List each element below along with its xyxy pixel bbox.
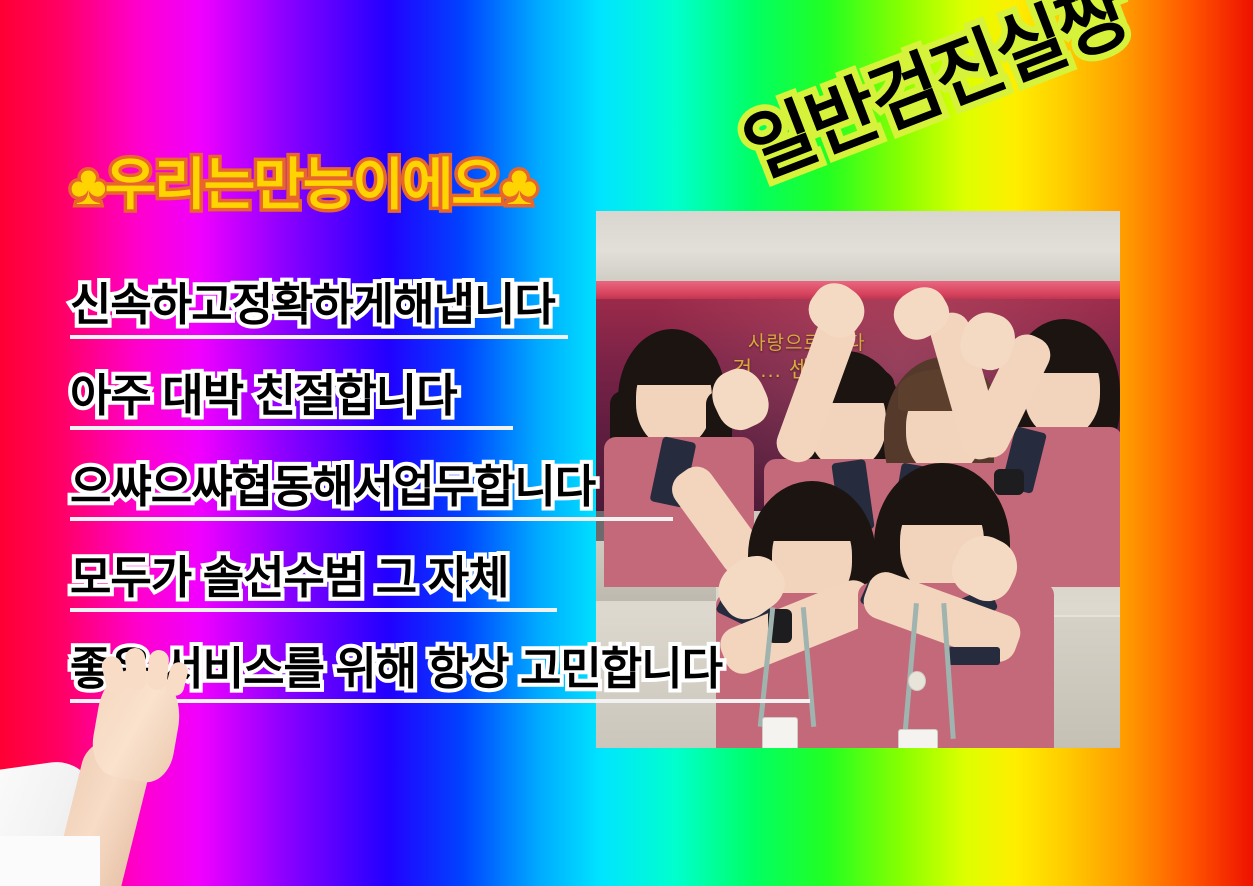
finger <box>124 647 148 691</box>
body-line-underline <box>70 517 673 521</box>
body-line-text: 아주 대박 친절합니다 <box>70 372 457 420</box>
body-line-underline <box>70 608 557 612</box>
page-title: ♣우리는만능이에오♣ <box>70 140 536 221</box>
body-line-underline <box>70 426 513 430</box>
photo-wall-upper-band <box>596 211 1120 283</box>
body-line-underline <box>70 335 568 339</box>
body-line-text: 신속하고정확하게해냅니다 <box>70 281 555 329</box>
body-line-text: 모두가 솔선수범 그 자체 <box>70 554 509 602</box>
poster-canvas: 사랑으로 ...다 건 ... 센터 <box>0 0 1253 886</box>
white-sleeve-lower <box>0 836 100 886</box>
body-line-text: 으쌰으쌰협동해서업무합니다 <box>70 463 595 511</box>
